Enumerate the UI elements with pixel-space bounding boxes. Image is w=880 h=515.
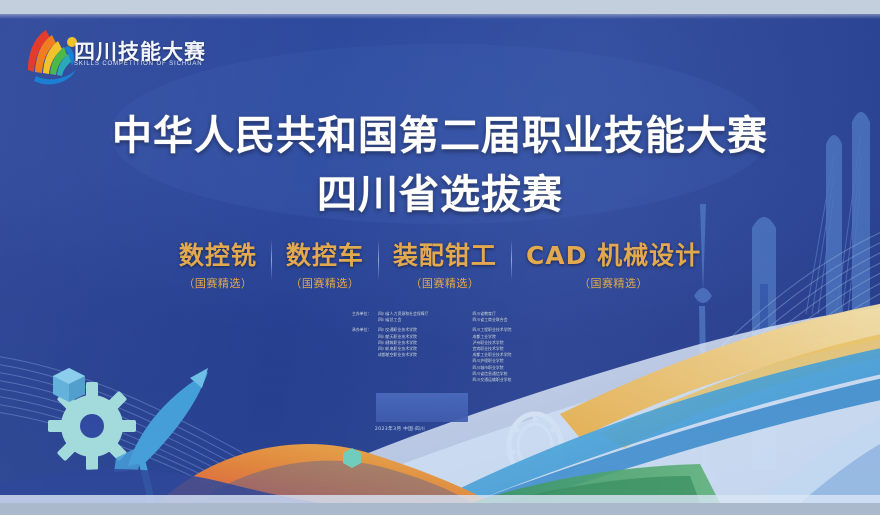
- host-label: 主办单位：: [352, 311, 378, 323]
- host-org: 四川省总工会: [378, 317, 473, 323]
- category-item: 数控铣 （国赛精选）: [165, 236, 271, 291]
- cohost-right-column: 四川工程职业技术学院 成都工业学院 泸州职业技术学院 宜宾职业技术学院 成都工业…: [473, 327, 568, 383]
- host-right-column: 四川省教育厅 四川省工商业联合会: [473, 311, 568, 323]
- logo-english-text: SKILLS COMPETITION OF SICHUAN: [74, 61, 202, 67]
- event-date-text: 2023年3月 中国·四川: [375, 427, 425, 432]
- banner-photo: 四川技能大赛 SKILLS COMPETITION OF SICHUAN 中华人…: [0, 0, 880, 515]
- host-org: 四川省工商业联合会: [473, 317, 568, 323]
- cohost-block: 承办单位： 四川交通职业技术学院 四川航天职业技术学院 四川建筑职业技术学院 四…: [352, 327, 567, 383]
- cohost-org: 四川交通运输职业学校: [473, 377, 568, 383]
- cohost-label: 承办单位：: [352, 327, 378, 383]
- category-name: 数控铣: [179, 236, 257, 272]
- category-subtitle: （国赛精选）: [290, 275, 359, 291]
- category-item: 装配钳工 （国赛精选）: [379, 236, 511, 291]
- category-item: CAD 机械设计 （国赛精选）: [512, 236, 715, 291]
- lower-info-panel: [376, 393, 468, 422]
- competition-logo: 四川技能大赛 SKILLS COMPETITION OF SICHUAN: [16, 20, 186, 86]
- category-item: 数控车 （国赛精选）: [272, 236, 378, 291]
- event-banner-board: 四川技能大赛 SKILLS COMPETITION OF SICHUAN 中华人…: [0, 14, 880, 503]
- organizer-credits: 主办单位： 四川省人力资源和社会保障厅 四川省总工会 四川省教育厅 四川省工商业…: [352, 311, 567, 387]
- main-title-line2: 四川省选拔赛: [0, 162, 880, 220]
- cohost-left-column: 四川交通职业技术学院 四川航天职业技术学院 四川建筑职业技术学院 四川机电职业技…: [378, 327, 473, 383]
- category-name: 数控车: [286, 236, 364, 272]
- category-subtitle: （国赛精选）: [410, 275, 479, 291]
- host-left-column: 四川省人力资源和社会保障厅 四川省总工会: [378, 311, 473, 323]
- category-name: CAD 机械设计: [526, 236, 701, 272]
- main-title-line1: 中华人民共和国第二届职业技能大赛: [0, 103, 880, 161]
- category-subtitle: （国赛精选）: [579, 275, 648, 291]
- category-name: 装配钳工: [393, 236, 497, 272]
- cohost-org: 成都航空职业技术学院: [378, 352, 473, 358]
- host-block: 主办单位： 四川省人力资源和社会保障厅 四川省总工会 四川省教育厅 四川省工商业…: [352, 311, 567, 323]
- category-subtitle: （国赛精选）: [183, 275, 252, 291]
- event-date-location: 2023年3月 中国·四川: [0, 426, 880, 432]
- category-list: 数控铣 （国赛精选） 数控车 （国赛精选） 装配钳工 （国赛精选） CAD 机械…: [0, 236, 880, 291]
